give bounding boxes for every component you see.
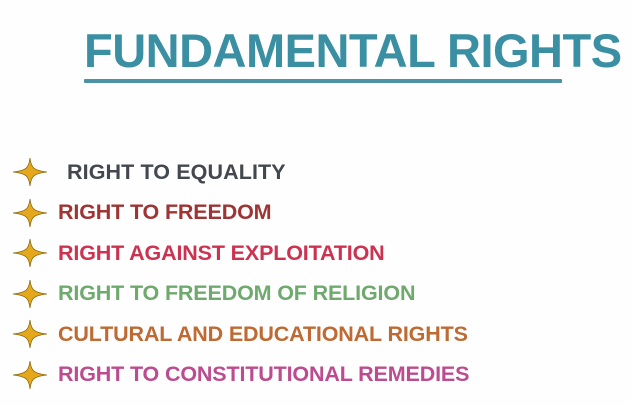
fundamental-rights-list: RIGHT TO EQUALITY RIGHT TO FREEDOM RIGHT…: [0, 152, 631, 395]
title-block: FUNDAMENTAL RIGHTS: [84, 26, 564, 83]
page-title: FUNDAMENTAL RIGHTS: [84, 26, 564, 76]
list-item-label: RIGHT TO CONSTITUTIONAL REMEDIES: [58, 362, 469, 387]
four-point-star-icon: [12, 280, 48, 308]
four-point-star-icon: [12, 199, 48, 227]
four-point-star-icon: [12, 158, 48, 186]
list-item[interactable]: CULTURAL AND EDUCATIONAL RIGHTS: [0, 314, 631, 355]
slide-canvas: FUNDAMENTAL RIGHTS RIGHT TO EQUALITY RIG…: [0, 0, 631, 406]
list-item[interactable]: RIGHT TO EQUALITY: [0, 152, 631, 193]
list-item[interactable]: RIGHT TO CONSTITUTIONAL REMEDIES: [0, 355, 631, 396]
four-point-star-icon: [12, 320, 48, 348]
title-underline-rule: [84, 79, 562, 83]
list-item-label: CULTURAL AND EDUCATIONAL RIGHTS: [58, 322, 468, 347]
list-item-label: RIGHT TO FREEDOM OF RELIGION: [58, 281, 415, 306]
four-point-star-icon: [12, 239, 48, 267]
four-point-star-icon: [12, 361, 48, 389]
list-item-label: RIGHT TO FREEDOM: [58, 200, 271, 225]
list-item[interactable]: RIGHT AGAINST EXPLOITATION: [0, 233, 631, 274]
list-item-label: RIGHT AGAINST EXPLOITATION: [58, 241, 385, 266]
list-item[interactable]: RIGHT TO FREEDOM OF RELIGION: [0, 274, 631, 315]
list-item[interactable]: RIGHT TO FREEDOM: [0, 193, 631, 234]
list-item-label: RIGHT TO EQUALITY: [67, 160, 286, 185]
